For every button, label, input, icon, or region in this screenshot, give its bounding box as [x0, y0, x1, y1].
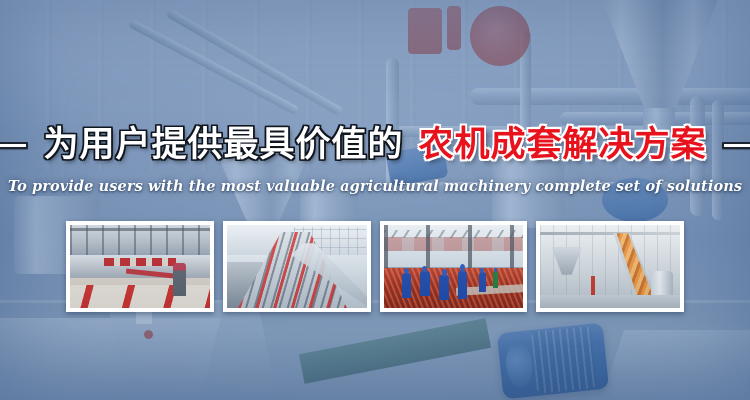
background-photo — [0, 0, 750, 400]
thumbnail-strip — [66, 221, 684, 312]
worker-figure-icon — [439, 275, 449, 300]
thumbnail-factory-production-line[interactable] — [66, 221, 214, 312]
worker-figure-icon — [420, 271, 430, 296]
headline-text-white: 为用户提供最具价值的 — [43, 123, 403, 167]
background-vignette — [0, 0, 750, 400]
thumbnail-inclined-chili-conveyor[interactable] — [223, 221, 371, 312]
background-scene — [0, 0, 750, 400]
thumbnail-image — [540, 225, 680, 308]
thumbnail-workers-drying-chili[interactable] — [380, 221, 528, 312]
thumbnail-produce-elevator-conveyor[interactable] — [536, 221, 684, 312]
worker-figure-icon — [402, 273, 412, 298]
thumbnail-image — [70, 225, 210, 308]
right-dash-ornament-icon — [722, 142, 750, 149]
thumbnail-image — [227, 225, 367, 308]
left-dash-ornament-icon — [0, 142, 28, 149]
thumbnail-image — [384, 225, 524, 308]
headline-block: 为用户提供最具价值的农机成套解决方案 To provide users with… — [0, 119, 750, 195]
headline-row: 为用户提供最具价值的农机成套解决方案 — [0, 119, 750, 171]
promo-banner: 为用户提供最具价值的农机成套解决方案 To provide users with… — [0, 0, 750, 400]
worker-figure-icon — [458, 271, 468, 299]
worker-figure-icon — [493, 271, 499, 288]
subheadline-text: To provide users with the most valuable … — [0, 178, 750, 195]
worker-figure-icon — [479, 272, 486, 292]
headline-text-red: 农机成套解决方案 — [419, 123, 707, 167]
